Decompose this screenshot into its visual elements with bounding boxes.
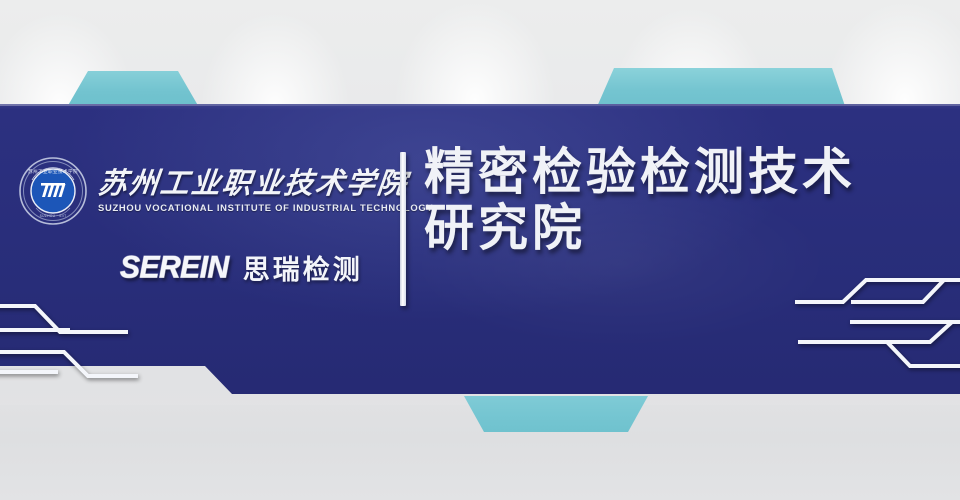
teal-trapezoid-right bbox=[596, 68, 846, 109]
university-logo-block: 苏州工业职业技术学院 SUZHOU · SIIT 苏州工业职业技术学院 SUZH… bbox=[18, 156, 390, 306]
institute-title-line2: 研究院 bbox=[424, 200, 944, 256]
institute-title-line1: 精密检验检测技术 bbox=[424, 144, 944, 200]
vertical-divider-bar bbox=[400, 152, 406, 306]
brand-name-en: SEREIN bbox=[120, 250, 229, 286]
university-name-cn: 苏州工业职业技术学院 bbox=[96, 170, 434, 199]
teal-trapezoid-bottom bbox=[458, 396, 654, 432]
svg-text:苏州工业职业技术学院: 苏州工业职业技术学院 bbox=[28, 168, 78, 175]
university-name-group: 苏州工业职业技术学院 SUZHOU VOCATIONAL INSTITUTE O… bbox=[98, 170, 433, 213]
university-name-en: SUZHOU VOCATIONAL INSTITUTE OF INDUSTRIA… bbox=[98, 202, 433, 213]
svg-text:SUZHOU · SIIT: SUZHOU · SIIT bbox=[40, 214, 67, 218]
signage-scene: 苏州工业职业技术学院 SUZHOU · SIIT 苏州工业职业技术学院 SUZH… bbox=[0, 0, 960, 500]
institute-title: 精密检验检测技术 研究院 bbox=[424, 144, 944, 256]
board-content: 苏州工业职业技术学院 SUZHOU · SIIT 苏州工业职业技术学院 SUZH… bbox=[0, 104, 960, 398]
brand-name-cn: 思瑞检测 bbox=[243, 248, 363, 287]
brand-lockup: SEREIN 思瑞检测 bbox=[120, 248, 363, 287]
university-identity-row: 苏州工业职业技术学院 SUZHOU · SIIT 苏州工业职业技术学院 SUZH… bbox=[18, 156, 433, 226]
university-crest-icon: 苏州工业职业技术学院 SUZHOU · SIIT bbox=[18, 156, 88, 226]
